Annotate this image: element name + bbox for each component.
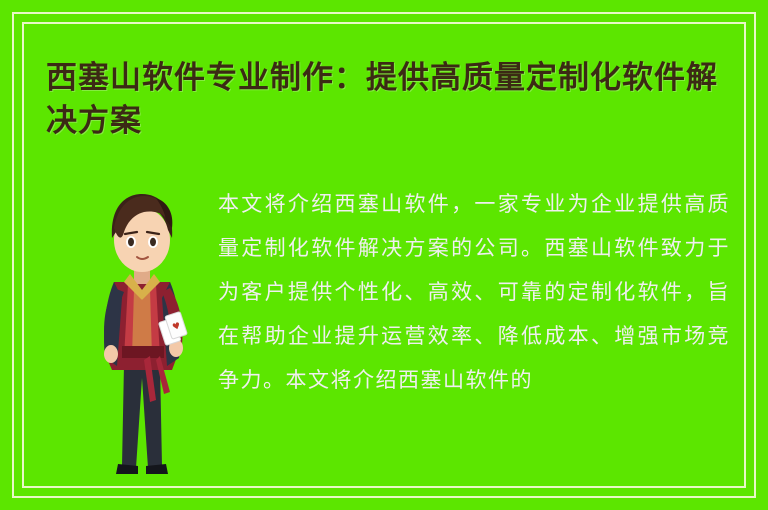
poster-canvas: 西塞山软件专业制作：提供高质量定制化软件解决方案 — [0, 0, 768, 510]
body-paragraph: 本文将介绍西塞山软件，一家专业为企业提供高质量定制化软件解决方案的公司。西塞山软… — [218, 182, 730, 402]
page-title: 西塞山软件专业制作：提供高质量定制化软件解决方案 — [46, 56, 736, 142]
character-illustration: ♥ — [72, 178, 212, 478]
anime-boy-icon: ♥ — [72, 178, 212, 478]
